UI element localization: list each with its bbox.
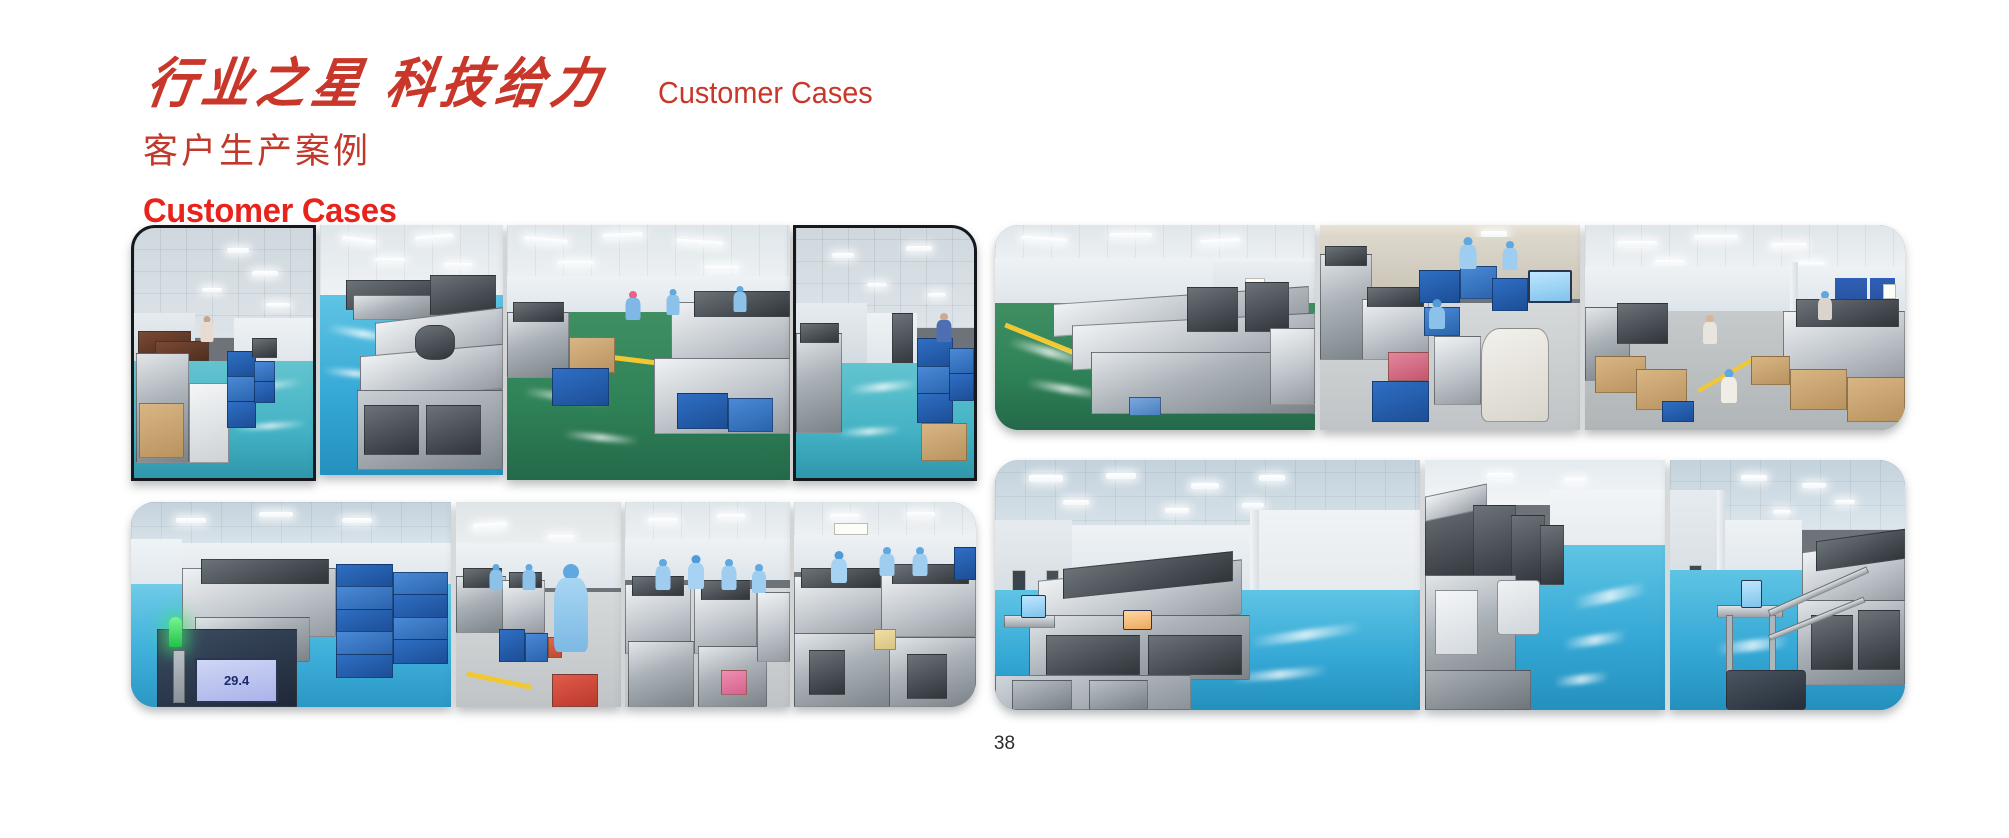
- page-title-cn: 客户生产案例: [143, 134, 1343, 169]
- photo-assembly-line-machines[interactable]: [320, 225, 503, 475]
- photo-cleanroom-conveyor-line[interactable]: [1670, 460, 1905, 710]
- photo-dense-machine-line[interactable]: [794, 502, 976, 707]
- photo-packing-area-workers[interactable]: [1320, 225, 1580, 430]
- photo-warehouse-carton-packing[interactable]: [1585, 225, 1905, 430]
- page-number: 38: [0, 733, 2009, 755]
- calligraphy-title: 行业之星 科技给力: [143, 58, 611, 112]
- page-title-en: Customer Cases: [143, 194, 1295, 228]
- photo-green-floor-operators[interactable]: [507, 225, 790, 480]
- header-top-row: 行业之星 科技给力 Customer Cases: [143, 48, 1343, 112]
- slide-canvas: 行业之星 科技给力 Customer Cases 客户生产案例 Customer…: [0, 0, 2009, 838]
- hmi-value: 29.4: [224, 674, 249, 687]
- photo-green-aisle-equipment[interactable]: [995, 225, 1315, 430]
- photo-operator-blue-gown[interactable]: [456, 502, 621, 707]
- photo-cleanroom-blue-floor-wide[interactable]: [995, 460, 1420, 710]
- header-subtitle-en: Customer Cases: [658, 77, 873, 112]
- hmi-display: 29.4: [195, 658, 278, 703]
- photo-cleanroom-equipment-aisle[interactable]: [1425, 460, 1665, 710]
- photo-warehouse-blue-crates[interactable]: [131, 225, 316, 481]
- photo-workshop-rows-operators[interactable]: [625, 502, 790, 707]
- slide-header: 行业之星 科技给力 Customer Cases 客户生产案例 Customer…: [143, 48, 1343, 228]
- photo-inspection-station-hmi[interactable]: 29.4: [131, 502, 451, 707]
- photo-corridor-blue-crates[interactable]: [793, 225, 977, 481]
